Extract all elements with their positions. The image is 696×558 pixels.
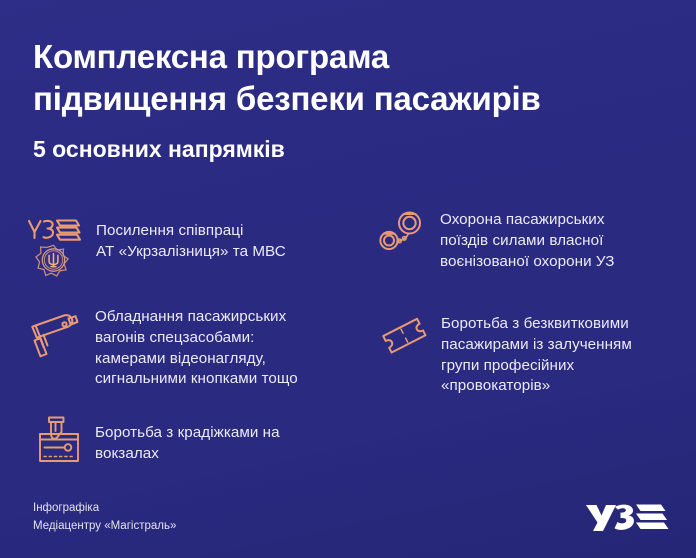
direction-item: Посилення співпраці АТ «Укрзалізниця» та…	[26, 213, 286, 279]
page-title: Комплексна програма підвищення безпеки п…	[33, 36, 673, 120]
uz-police-emblem-icon	[26, 213, 82, 279]
page-subtitle: 5 основних напрямків	[33, 136, 673, 164]
direction-item: Обладнання пасажирських вагонів спецзасо…	[26, 307, 298, 390]
uz-logo	[584, 499, 670, 535]
footer-credit: Інфографіка Медіацентру «Магістраль»	[33, 500, 176, 536]
handcuffs-icon	[376, 207, 428, 259]
header: Комплексна програма підвищення безпеки п…	[33, 36, 673, 164]
directions-list: Посилення співпраці АТ «Укрзалізниця» та…	[0, 205, 696, 480]
direction-text: Посилення співпраці АТ «Укрзалізниця» та…	[96, 213, 286, 263]
direction-text: Охорона пасажирських поїздів силами влас…	[440, 207, 614, 272]
direction-text: Обладнання пасажирських вагонів спецзасо…	[95, 307, 298, 390]
direction-text: Боротьба з крадіжками на вокзалах	[95, 414, 280, 465]
direction-text: Боротьба з безквитковими пасажирами із з…	[441, 311, 632, 397]
direction-item: Боротьба з безквитковими пасажирами із з…	[380, 311, 632, 397]
direction-item: Охорона пасажирських поїздів силами влас…	[376, 207, 614, 272]
direction-item: Боротьба з крадіжками на вокзалах	[36, 414, 280, 466]
cctv-camera-icon	[26, 307, 82, 363]
wallet-theft-icon	[36, 414, 82, 466]
ticket-icon	[380, 311, 428, 359]
infographic-poster: Комплексна програма підвищення безпеки п…	[0, 0, 696, 558]
